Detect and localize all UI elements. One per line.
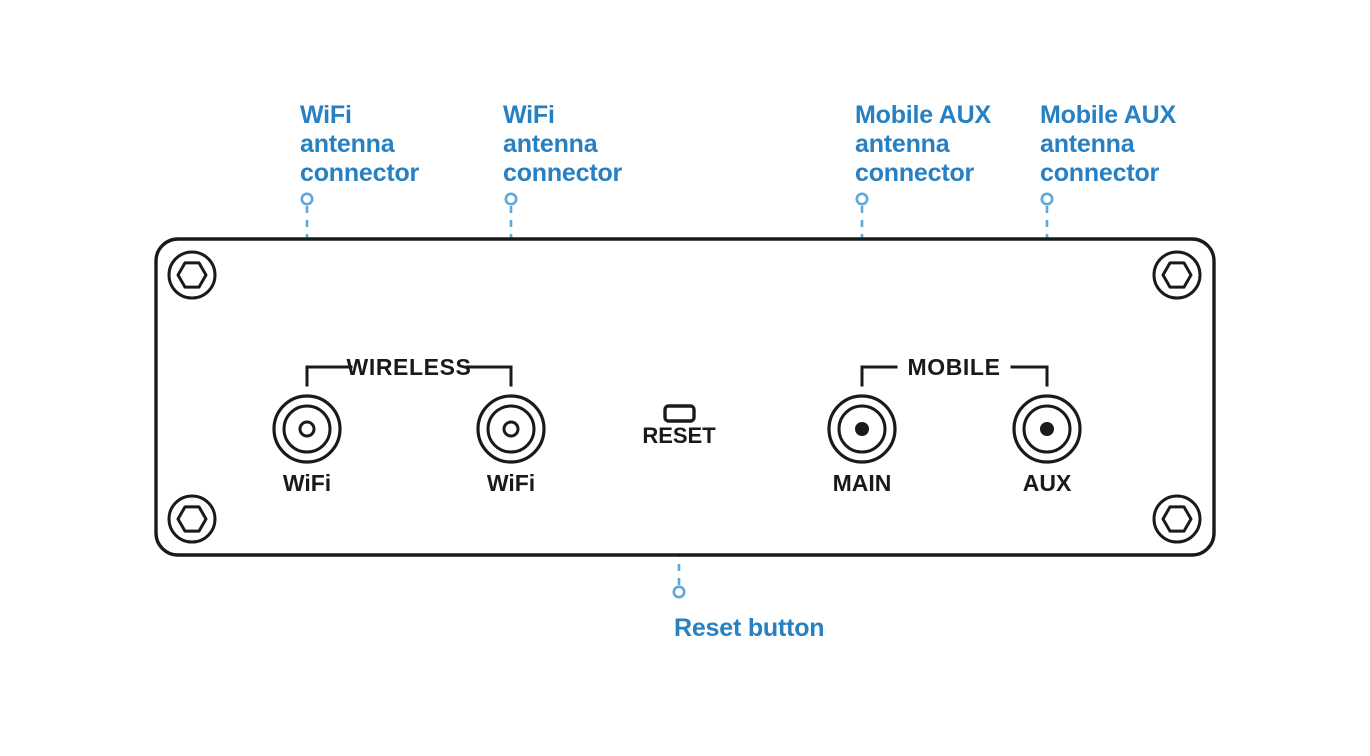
- screw-top-left-hex-socket: [178, 263, 206, 287]
- wifi-connector-2-label: WiFi: [487, 470, 535, 496]
- screw-top-right-hex-socket: [1163, 263, 1191, 287]
- mobile-group-label: MOBILE: [907, 354, 1000, 380]
- wireless-group-label: WIRELESS: [347, 354, 472, 380]
- wifi-connector-2[interactable]: WiFi: [478, 396, 544, 496]
- screw-bottom-right: [1154, 496, 1200, 542]
- reset-button-callout-callout: Reset button: [674, 614, 824, 642]
- screw-bottom-left: [169, 496, 215, 542]
- mobile-main-connector[interactable]: MAIN: [829, 396, 895, 496]
- mobile-aux-connector-center-pin: [1040, 422, 1054, 436]
- screw-bottom-right-hex-socket: [1163, 507, 1191, 531]
- mobile-aux-connector[interactable]: AUX: [1014, 396, 1080, 496]
- mobile-aux-antenna-connector-1-leader-endpoint: [857, 194, 867, 204]
- reset-button-callout-leader-endpoint: [674, 587, 684, 597]
- device-panel-diagram: WIRELESSMOBILE WiFiWiFiMAINAUXRESET WiFi…: [0, 0, 1370, 756]
- mobile-aux-antenna-connector-2-leader-endpoint: [1042, 194, 1052, 204]
- wifi-connector-1-center-socket: [300, 422, 314, 436]
- diagram-canvas: WIRELESSMOBILE WiFiWiFiMAINAUXRESET WiFi…: [0, 0, 1370, 756]
- screw-top-right: [1154, 252, 1200, 298]
- wifi-connector-1-label: WiFi: [283, 470, 331, 496]
- mobile-main-connector-center-pin: [855, 422, 869, 436]
- mobile-main-connector-label: MAIN: [833, 470, 892, 496]
- wifi-antenna-connector-2-leader-endpoint: [506, 194, 516, 204]
- wifi-connector-2-center-socket: [504, 422, 518, 436]
- wifi-connector-1[interactable]: WiFi: [274, 396, 340, 496]
- reset-button-callout-callout-text: Reset button: [674, 614, 824, 642]
- screw-top-left: [169, 252, 215, 298]
- reset-button-opening: [665, 406, 694, 421]
- screw-bottom-left-hex-socket: [178, 507, 206, 531]
- reset-button-label: RESET: [642, 423, 716, 448]
- wifi-antenna-connector-1-leader-endpoint: [302, 194, 312, 204]
- mobile-aux-connector-label: AUX: [1023, 470, 1072, 496]
